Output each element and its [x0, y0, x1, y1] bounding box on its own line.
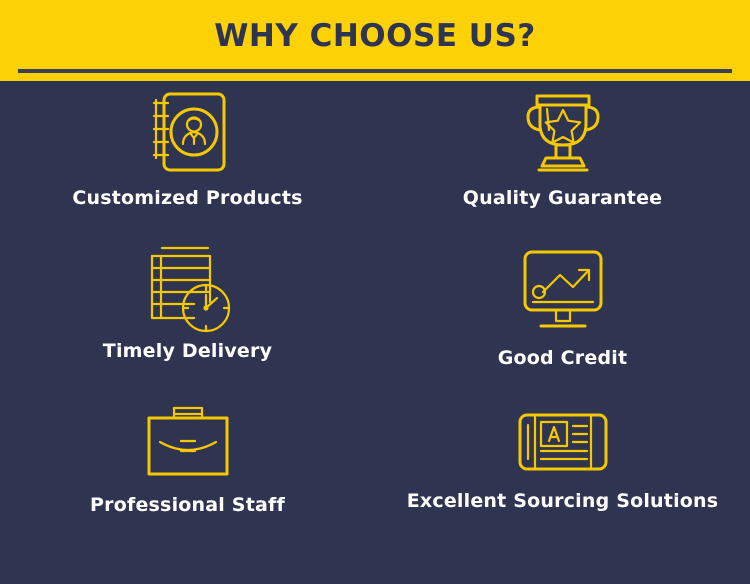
feature-grid: Customized Products — [0, 81, 750, 541]
notebook-person-icon — [142, 81, 234, 179]
feature-label: Good Credit — [498, 347, 628, 369]
feature-label: Excellent Sourcing Solutions — [407, 490, 719, 512]
feature-item-timely-delivery[interactable]: Timely Delivery — [0, 234, 375, 387]
monitor-growth-chart-icon — [515, 234, 611, 334]
feature-label: Customized Products — [72, 187, 302, 209]
feature-label: Quality Guarantee — [463, 187, 663, 209]
header-band: WHY CHOOSE US? — [0, 0, 750, 81]
briefcase-icon — [138, 388, 238, 482]
feature-item-customized-products[interactable]: Customized Products — [0, 81, 375, 234]
feature-label: Timely Delivery — [103, 340, 272, 362]
feature-label: Professional Staff — [90, 494, 285, 516]
why-choose-us-poster: WHY CHOOSE US? — [0, 0, 750, 584]
calendar-clock-icon — [136, 234, 240, 334]
feature-item-quality-guarantee[interactable]: Quality Guarantee — [375, 81, 750, 234]
page-title: WHY CHOOSE US? — [0, 17, 750, 55]
feature-item-professional-staff[interactable]: Professional Staff — [0, 388, 375, 541]
title-divider — [18, 69, 732, 73]
feature-item-good-credit[interactable]: Good Credit — [375, 234, 750, 387]
trophy-star-icon — [513, 81, 613, 179]
document-letter-a-icon — [513, 388, 613, 482]
feature-item-excellent-sourcing-solutions[interactable]: Excellent Sourcing Solutions — [375, 388, 750, 541]
